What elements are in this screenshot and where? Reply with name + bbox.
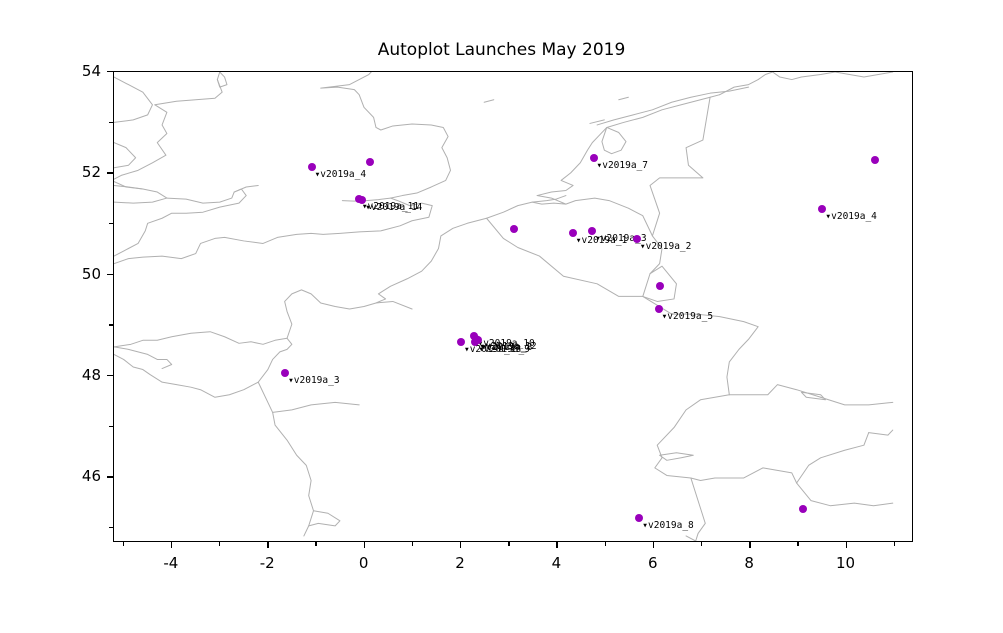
chart-title: Autoplot Launches May 2019 [0,40,1003,60]
y-axis-minor-tick [109,426,113,427]
data-point-label: ▾v2019a_8 [642,520,693,531]
coastline-path [655,395,869,483]
coastline-path [566,198,653,236]
x-axis-minor-tick [797,542,798,546]
data-point-label: ▾v2019a_9 [478,344,529,355]
y-axis-minor-tick [109,324,113,325]
coastline-path [691,478,705,541]
coastline-path [376,301,412,309]
coastline-path [273,402,360,412]
y-axis-minor-tick [109,527,113,528]
y-axis-tick-label: 54 [69,62,101,80]
coastline-path [773,72,835,80]
y-axis-minor-tick [109,223,113,224]
x-axis-minor-tick [605,542,606,546]
data-point-label: ▾v2019a_4 [825,211,876,222]
coastline-path [650,97,710,236]
x-axis-tick-label: 0 [359,554,369,572]
x-axis-tick-label: -4 [163,554,178,572]
figure-canvas: Autoplot Launches May 2019 ▾v2019a_4▾v20… [0,0,1003,633]
coastline-path [114,77,152,122]
data-point[interactable] [366,158,374,166]
coastline-path [729,385,820,398]
coastline-path [597,87,748,125]
coastline-path [602,127,626,153]
data-point-label: ▾v2019a_14 [365,202,422,213]
x-axis-tick [653,542,654,548]
coastline-path [619,97,629,100]
x-axis-tick [364,542,365,548]
coastline-path [114,189,246,256]
coastline-path [821,397,893,405]
coastline-path [114,143,136,168]
data-point[interactable] [510,225,518,233]
y-axis-tick-label: 52 [69,163,101,181]
x-axis-tick-label: 6 [648,554,658,572]
x-axis-tick-label: 2 [455,554,465,572]
x-axis-minor-tick [508,542,509,546]
y-axis-tick [107,274,113,275]
x-axis-minor-tick [412,542,413,546]
data-point-label: ▾v2019a_2 [640,241,691,252]
y-axis-tick [107,71,113,72]
coastline-path [309,511,340,526]
data-point-label: ▾v2019a_7 [597,160,648,171]
coastline-path [660,453,694,461]
x-axis-tick [267,542,268,548]
data-point[interactable] [656,282,664,290]
x-axis-minor-tick [123,542,124,546]
x-axis-tick-label: 4 [552,554,562,572]
x-axis-tick [749,542,750,548]
coastline-path [234,185,258,192]
y-axis-tick [107,375,113,376]
x-axis-tick-label: 8 [744,554,754,572]
coastline-path [797,483,893,506]
coastline-path [285,196,566,339]
data-point-label: ▾v2019a_4 [315,169,366,180]
y-axis-tick [107,476,113,477]
x-axis-tick-label: -2 [260,554,275,572]
x-axis-minor-tick [894,542,895,546]
x-axis-tick [556,542,557,548]
y-axis-tick [107,172,113,173]
data-point[interactable] [871,156,879,164]
x-axis-minor-tick [315,542,316,546]
x-axis-tick [846,542,847,548]
coastline-path [532,95,719,204]
y-axis-tick-label: 50 [69,265,101,283]
data-point-label: ▾v2019a_5 [662,311,713,322]
x-axis-tick [460,542,461,548]
y-axis-tick-label: 46 [69,467,101,485]
x-axis-tick [171,542,172,548]
coastline-path [869,430,893,435]
coastline-path [484,100,494,103]
coastline-path [590,120,604,124]
coastline-path [114,72,451,264]
coastline-path [155,72,222,105]
y-axis-minor-tick [109,122,113,123]
basemap-coastlines [114,72,912,541]
coastline-path [114,185,167,203]
x-axis-tick-label: 10 [836,554,855,572]
data-point-label: ▾v2019a_3 [288,375,339,386]
x-axis-minor-tick [219,542,220,546]
x-axis-minor-tick [701,542,702,546]
coastline-path [801,392,825,400]
coastline-path [114,347,172,369]
plot-axes: ▾v2019a_4▾v2019a_11▾v2019a_14▾v2019a_7▾v… [113,71,913,542]
y-axis-tick-label: 48 [69,366,101,384]
coastline-path [686,536,696,541]
data-point[interactable] [799,505,807,513]
coastline-path [258,382,313,536]
coastline-path [835,72,893,77]
coastline-path [114,332,292,398]
